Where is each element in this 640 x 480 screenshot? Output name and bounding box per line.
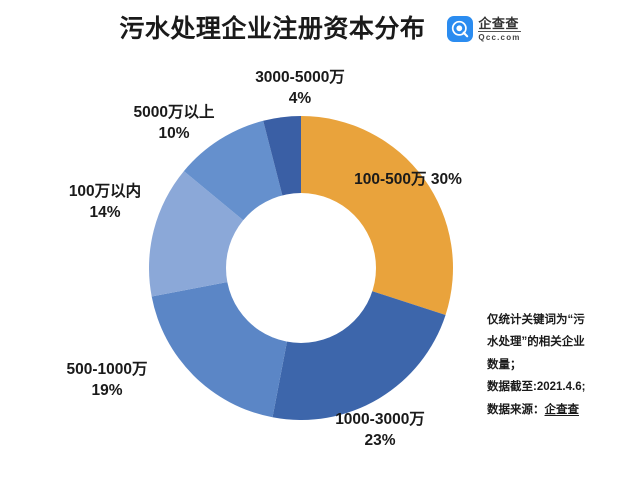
slice-label-500-1000: 500-1000万 19% (34, 360, 180, 402)
slice-label-100-within: 100万以内 14% (44, 182, 166, 224)
slice-label-100-500: 100-500万 30% (348, 170, 468, 191)
chart-page: 污水处理企业注册资本分布 企查查 Qcc.com 3000-5000万 4% (0, 0, 640, 480)
brand-name: 企查查 (478, 17, 520, 32)
slice-label-name: 100万以内 (69, 183, 141, 200)
footnote-line-4: 数据截至:2021.4.6; (487, 376, 635, 398)
slice-label-name: 500-1000万 (66, 361, 147, 378)
slice-label-1000-3000: 1000-3000万 23% (300, 410, 460, 452)
footnote-line-1: 仅统计关键词为“污 (487, 309, 635, 331)
brand-text: 企查查 Qcc.com (478, 17, 520, 42)
page-title: 污水处理企业注册资本分布 (119, 17, 425, 42)
footnote-line-3: 数量； (487, 354, 635, 376)
slice-label-name: 1000-3000万 (335, 411, 425, 428)
footnote-line-2: 水处理”的相关企业 (487, 331, 635, 353)
slice-label-pct: 10% (112, 124, 236, 145)
slice-label-name: 5000万以上 (134, 104, 215, 121)
brand-domain: Qcc.com (478, 34, 520, 42)
footnote-source-prefix: 数据来源： (487, 404, 545, 416)
slice-label-pct: 23% (300, 431, 460, 452)
donut-svg (149, 116, 453, 420)
slice-label-pct: 14% (44, 203, 166, 224)
slice-label-pct: 30% (431, 171, 462, 188)
slice-label-name: 3000-5000万 (255, 69, 345, 86)
slice-label-pct: 4% (231, 89, 369, 110)
chart-header: 污水处理企业注册资本分布 企查查 Qcc.com (0, 0, 640, 58)
slice-label-name: 100-500万 (354, 171, 426, 188)
footnote-source-link[interactable]: 企查查 (545, 404, 580, 416)
slice-label-5000-up: 5000万以上 10% (112, 103, 236, 145)
donut-hole (226, 193, 376, 343)
brand-logo[interactable]: 企查查 Qcc.com (447, 16, 520, 42)
slice-label-pct: 19% (34, 381, 180, 402)
donut-chart (149, 116, 453, 420)
slice-label-3000-5000: 3000-5000万 4% (231, 68, 369, 110)
footnote-line-5: 数据来源：企查查 (487, 399, 635, 421)
footnote-block: 仅统计关键词为“污 水处理”的相关企业 数量； 数据截至:2021.4.6; 数… (487, 309, 635, 421)
qcc-circle-q-icon (447, 16, 473, 42)
